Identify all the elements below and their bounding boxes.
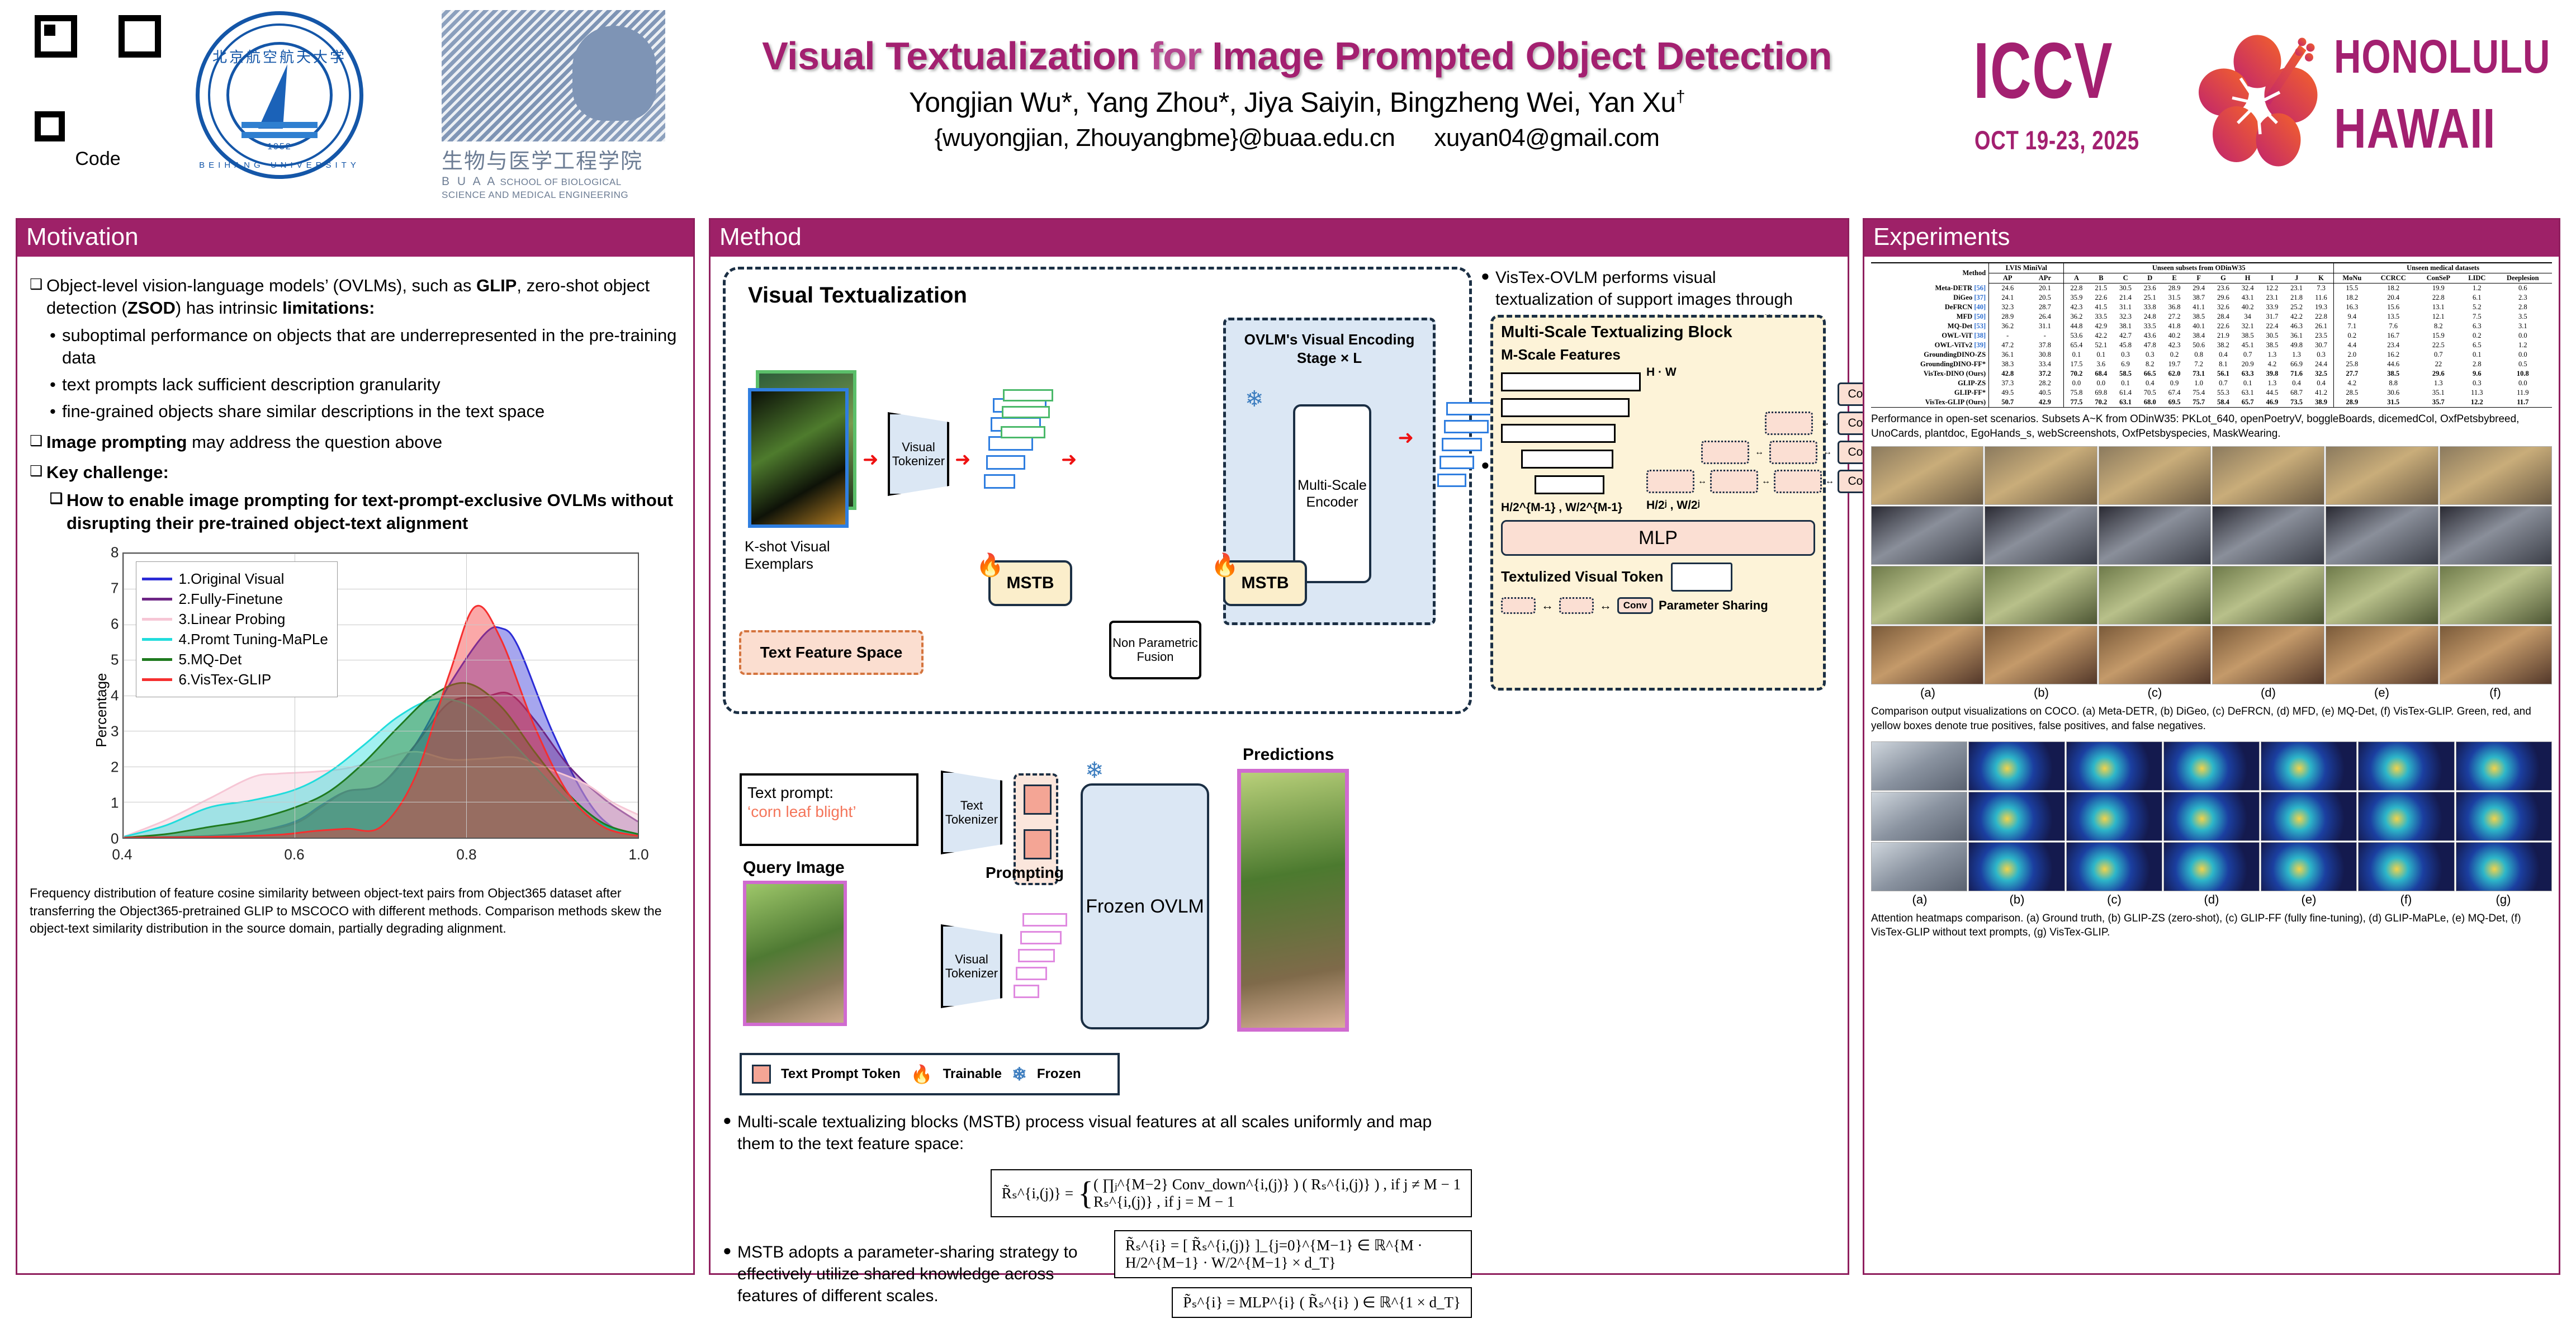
snowflake-icon: ❄ <box>1012 1064 1027 1085</box>
comparison-thumbnail <box>1985 626 2097 684</box>
exemplar-image-2 <box>748 388 849 528</box>
cell: 65.4 <box>2064 341 2089 350</box>
bullet1-post: ) has intrinsic <box>176 298 282 318</box>
cell: 41.2 <box>2309 388 2334 398</box>
cell: 37.2 <box>2026 369 2064 379</box>
cell: 69.5 <box>2162 398 2187 407</box>
buaa-founding-year: 1952 <box>196 142 363 152</box>
cell: 0.3 <box>2309 350 2334 360</box>
cell: 28.9 <box>2334 398 2370 407</box>
school-english-line2: SCIENCE AND MEDICAL ENGINEERING <box>442 190 628 200</box>
cell: 4.2 <box>2260 360 2285 369</box>
cell: 1.3 <box>2260 379 2285 388</box>
scale-feature-slab <box>1501 424 1616 443</box>
cell: 30.6 <box>2370 388 2417 398</box>
comparison-thumbnail <box>2212 506 2324 565</box>
cell: 37.8 <box>2026 341 2064 350</box>
cell: 0.3 <box>2138 350 2162 360</box>
sublabel: (b) <box>1985 686 2098 700</box>
cell: 6.3 <box>2460 322 2494 331</box>
cell: 58.4 <box>2211 398 2236 407</box>
comparison-thumbnail <box>2099 626 2211 684</box>
cell: 26.1 <box>2309 322 2334 331</box>
cell: 4.2 <box>2334 379 2370 388</box>
scale-feature-slab <box>1501 398 1630 417</box>
row-method: DeFRCN [40] <box>1871 303 1989 312</box>
cell: 31.5 <box>2162 293 2187 303</box>
arrow-icon: ➜ <box>863 448 879 471</box>
row-method: DiGeo [37] <box>1871 293 1989 303</box>
col-ConSeP: ConSeP <box>2417 273 2460 283</box>
buaa-chinese-name: 北京航空航天大学 <box>196 46 363 67</box>
cell: 22.8 <box>2064 283 2089 294</box>
page-title: Visual Textualization for Image Prompted… <box>643 34 1951 78</box>
cell: 42.3 <box>2064 303 2089 312</box>
iccv-wordmark: ICCV <box>1973 25 2113 117</box>
cell: 3.6 <box>2089 360 2114 369</box>
cell: 41.5 <box>2089 303 2114 312</box>
sublabel: (a) <box>1871 892 1968 907</box>
cell: 30.7 <box>2309 341 2334 350</box>
comparison-thumbnail <box>1871 506 1983 565</box>
attention-heatmap-thumbnail <box>2261 842 2357 891</box>
cell: 0.8 <box>2186 350 2211 360</box>
y-tick: 0 <box>96 830 119 847</box>
cell: 42.8 <box>1989 369 2026 379</box>
cell: 33.8 <box>2138 303 2162 312</box>
cell: 22 <box>2417 360 2460 369</box>
cell: 42.9 <box>2089 322 2114 331</box>
exemplars-caption: K-shot Visual Exemplars <box>745 538 860 573</box>
flame-icon: 🔥 <box>911 1064 933 1085</box>
figure1-caption: Comparison output visualizations on COCO… <box>1871 705 2552 733</box>
double-arrow-icon: ↔ <box>1823 447 1832 457</box>
comparison-thumbnail <box>2440 446 2552 505</box>
cell: 33.5 <box>2089 312 2114 322</box>
cell: 37.3 <box>1989 379 2026 388</box>
cell: 12.1 <box>2417 312 2460 322</box>
cell: 3.5 <box>2494 312 2552 322</box>
arrow-icon: ➜ <box>955 448 971 471</box>
col-MoNu: MoNu <box>2334 273 2370 283</box>
cell: 0.2 <box>2162 350 2187 360</box>
method-bullet-4: ● MSTB adopts a parameter-sharing strate… <box>723 1241 1103 1307</box>
dot-bullet-icon: • <box>50 400 62 423</box>
text-prompt-box: Text prompt: ‘corn leaf blight’ <box>740 773 918 846</box>
cell: 36.1 <box>1989 350 2026 360</box>
attention-heatmap-thumbnail <box>2066 842 2162 891</box>
predictions-label: Predictions <box>1243 745 1334 764</box>
comparison-thumbnail <box>2326 446 2438 505</box>
cell: 21.8 <box>2284 293 2309 303</box>
mstb-figure-title: Multi-Scale Textualizing Block <box>1501 323 1815 342</box>
cell: 21.9 <box>2211 331 2236 341</box>
double-arrow-icon: ↔ <box>1698 476 1707 486</box>
cell: 63.3 <box>2236 369 2260 379</box>
shared-conv-placeholder <box>1646 470 1694 493</box>
equation-1: R̃ₛ^{i,(j)} = { ( ∏ⱼ^{M−2} Conv_down^{i,… <box>991 1169 1472 1217</box>
bullet2-bold: Image prompting <box>46 432 187 452</box>
square-bullet-icon: ❑ <box>30 431 46 453</box>
col-E: E <box>2162 273 2187 283</box>
cell: 0.4 <box>2138 379 2162 388</box>
table-row: GroundingDINO-FF*38.333.417.53.66.98.219… <box>1871 360 2552 369</box>
y-tick: 6 <box>96 615 119 632</box>
motivation-sub-1: • suboptimal performance on objects that… <box>50 324 681 370</box>
cell: 53.6 <box>2064 331 2089 341</box>
cell: 47.2 <box>1989 341 2026 350</box>
cell: 45.8 <box>2113 341 2138 350</box>
col-method: Method <box>1871 263 1989 283</box>
sublabel: (g) <box>2455 892 2552 907</box>
snowflake-icon: ❄ <box>1245 386 1264 412</box>
cell: 35.9 <box>2064 293 2089 303</box>
shared-conv-placeholder <box>1765 412 1813 435</box>
attention-heatmap-thumbnail <box>1871 792 1967 841</box>
cell: 0.3 <box>2460 379 2494 388</box>
cell: 7.1 <box>2334 322 2370 331</box>
cell: 30.8 <box>2026 350 2064 360</box>
cell: 49.5 <box>1989 388 2026 398</box>
cell: 36.8 <box>2162 303 2187 312</box>
cell: 38.9 <box>2309 398 2334 407</box>
cell: 68.4 <box>2089 369 2114 379</box>
cell: 70.5 <box>2138 388 2162 398</box>
corresponding-marker: † <box>1676 87 1685 106</box>
cell: - <box>1989 331 2026 341</box>
shared-conv-placeholder <box>1559 597 1594 614</box>
cell: 5.2 <box>2460 303 2494 312</box>
table-row: MFD [50]28.926.436.233.532.324.827.238.5… <box>1871 312 2552 322</box>
cell: 25.8 <box>2334 360 2370 369</box>
chart-plot-area: 1.Original Visual2.Fully-Finetune3.Linea… <box>122 552 639 839</box>
cell: 31.1 <box>2026 322 2064 331</box>
method-bullet-3-text: Multi-scale textualizing blocks (MSTB) p… <box>737 1111 1472 1155</box>
cell: 43.6 <box>2138 331 2162 341</box>
cell: 44.8 <box>2064 322 2089 331</box>
cell: 23.6 <box>2211 283 2236 294</box>
group-lvis: LVIS MiniVal <box>1989 263 2064 273</box>
cell: 0.0 <box>2494 379 2552 388</box>
cell: 0.4 <box>2211 350 2236 360</box>
text-feature-space-block: Text Feature Space <box>739 630 924 675</box>
cell: 15.9 <box>2417 331 2460 341</box>
cell: 34 <box>2236 312 2260 322</box>
text-prompt-token-swatch <box>752 1065 771 1084</box>
cell: 1.3 <box>2417 379 2460 388</box>
dot-bullet-icon: • <box>50 374 62 396</box>
cell: 49.8 <box>2284 341 2309 350</box>
table-row: DiGeo [37]24.120.535.922.621.425.131.538… <box>1871 293 2552 303</box>
cell: 44.6 <box>2370 360 2417 369</box>
output-feature-stack <box>1437 402 1499 508</box>
comparison-thumbnail <box>1871 626 1983 684</box>
iccv-dates: OCT 19-23, 2025 <box>1974 125 2139 155</box>
double-arrow-icon: ↔ <box>1599 598 1612 613</box>
visual-tokenizer-block: Visual Tokenizer <box>888 412 949 496</box>
cell: 42.2 <box>2089 331 2114 341</box>
cell: 38.4 <box>2186 331 2211 341</box>
cell: 40.2 <box>2236 303 2260 312</box>
text-tokenizer-block: Text Tokenizer <box>941 771 1002 854</box>
cell: 38.3 <box>1989 360 2026 369</box>
cell: 16.3 <box>2334 303 2370 312</box>
sublabel: (d) <box>2212 686 2325 700</box>
title-block: Visual Textualization for Image Prompted… <box>643 34 1951 152</box>
table-row: Meta-DETR [56]24.620.122.821.530.523.628… <box>1871 283 2552 294</box>
method-panel: Method Visual Textualization K-shot Visu… <box>709 218 1849 1275</box>
cell: 71.6 <box>2284 369 2309 379</box>
cell: 35.1 <box>2417 388 2460 398</box>
comparison-thumbnail <box>2440 506 2552 565</box>
chart-caption: Frequency distribution of feature cosine… <box>30 885 681 938</box>
query-feature-stack <box>1014 913 1075 1019</box>
comparison-visualizations-figure <box>1871 446 2552 684</box>
table-row: GroundingDINO-ZS36.130.80.10.10.30.30.20… <box>1871 350 2552 360</box>
cell: 44.5 <box>2260 388 2285 398</box>
cell: 9.6 <box>2460 369 2494 379</box>
cell: 15.5 <box>2334 283 2370 294</box>
table-row: MQ-Det [53]36.231.144.842.938.133.541.84… <box>1871 322 2552 331</box>
bullet1-glip: GLIP <box>476 276 517 295</box>
sublabel: (f) <box>2438 686 2552 700</box>
query-image-label: Query Image <box>743 858 845 877</box>
email-buaa[interactable]: {wuyongjian, Zhouyangbme}@buaa.edu.cn <box>935 124 1395 152</box>
legend-item: 5.MQ-Det <box>142 651 328 668</box>
email-gmail[interactable]: xuyan04@gmail.com <box>1434 124 1659 152</box>
cell: 10.8 <box>2494 369 2552 379</box>
row-method: MFD [50] <box>1871 312 1989 322</box>
bullet2-rest: may address the question above <box>187 432 442 452</box>
comparison-thumbnail <box>2326 626 2438 684</box>
legend-frozen-label: Frozen <box>1037 1066 1081 1082</box>
cell: 50.6 <box>2186 341 2211 350</box>
col-APr: APr <box>2026 273 2064 283</box>
cell: 66.9 <box>2284 360 2309 369</box>
cell: 0.4 <box>2309 379 2334 388</box>
cell: 75.7 <box>2186 398 2211 407</box>
x-tick: 0.4 <box>112 846 132 863</box>
double-arrow-icon: ↔ <box>1541 598 1554 613</box>
cell: 1.3 <box>2284 350 2309 360</box>
row-method: GroundingDINO-ZS <box>1871 350 1989 360</box>
cell: 46.9 <box>2260 398 2285 407</box>
cell: 7.2 <box>2186 360 2211 369</box>
buaa-english-name: BEIHANG UNIVERSITY <box>196 160 363 170</box>
cell: 32.3 <box>1989 303 2026 312</box>
table-row: OWL-ViT [38]--53.642.242.743.640.238.421… <box>1871 331 2552 341</box>
cell: 2.8 <box>2494 303 2552 312</box>
col-J: J <box>2284 273 2309 283</box>
x-tick: 0.6 <box>284 846 304 863</box>
cell: 25.2 <box>2284 303 2309 312</box>
conv-block: Conv <box>1617 597 1653 614</box>
experiments-body: MethodLVIS MiniValUnseen subsets from OD… <box>1864 257 2559 946</box>
dot-bullet-icon: ● <box>723 1111 737 1155</box>
query-image <box>743 881 847 1026</box>
attention-heatmap-thumbnail <box>2261 792 2357 841</box>
cell: 36.2 <box>1989 322 2026 331</box>
col-LIDC: LIDC <box>2460 273 2494 283</box>
experiments-panel: Experiments MethodLVIS MiniValUnseen sub… <box>1863 218 2560 1275</box>
cell: 17.5 <box>2064 360 2089 369</box>
cell: 25.1 <box>2138 293 2162 303</box>
figure2-caption: Attention heatmaps comparison. (a) Groun… <box>1871 911 2552 940</box>
cell: 0.7 <box>2236 350 2260 360</box>
cell: 32.5 <box>2309 369 2334 379</box>
cell: 70.2 <box>2089 398 2114 407</box>
cell: 0.0 <box>2494 331 2552 341</box>
cell: 69.8 <box>2089 388 2114 398</box>
table-row: GLIP-FF*49.540.575.869.861.470.567.475.4… <box>1871 388 2552 398</box>
snowflake-icon: ❄ <box>1085 758 1104 783</box>
comparison-thumbnail <box>2099 446 2211 505</box>
col-AP: AP <box>1989 273 2026 283</box>
method-body: Visual Textualization K-shot Visual Exem… <box>711 257 1848 1328</box>
cell: 38.2 <box>2211 341 2236 350</box>
arrow-icon: ➜ <box>1398 427 1414 449</box>
conference-state: HAWAII <box>2334 97 2495 161</box>
motivation-body: ❑ Object-level vision-language models’ (… <box>17 257 693 948</box>
sublabel: (c) <box>2066 892 2163 907</box>
col-C: C <box>2113 273 2138 283</box>
cell: 38.5 <box>2236 331 2260 341</box>
cell: 1.3 <box>2260 350 2285 360</box>
cell: 11.9 <box>2494 388 2552 398</box>
cell: 28.4 <box>2211 312 2236 322</box>
cell: 12.2 <box>2460 398 2494 407</box>
cell: 24.6 <box>1989 283 2026 294</box>
shared-conv-placeholder <box>1701 441 1749 464</box>
text-prompt-value: ‘corn leaf blight’ <box>747 802 911 821</box>
sub3-text: fine-grained objects share similar descr… <box>62 400 544 423</box>
equation-3: P̃ₛ^{i} = MLP^{i} ( R̃ₛ^{i} ) ∈ ℝ^{1 × d… <box>1172 1287 1472 1318</box>
key-challenge-text: How to enable image prompting for text-p… <box>67 489 681 535</box>
cell: 7.6 <box>2370 322 2417 331</box>
cell: 36.2 <box>2064 312 2089 322</box>
cell: 68.7 <box>2284 388 2309 398</box>
qr-code-icon[interactable] <box>34 14 162 143</box>
cell: 50.7 <box>1989 398 2026 407</box>
comparison-thumbnail <box>2440 626 2552 684</box>
cell: 70.2 <box>2064 369 2089 379</box>
cell: 31.1 <box>2113 303 2138 312</box>
double-arrow-icon: ↔ <box>1755 447 1764 457</box>
cell: 42.2 <box>2284 312 2309 322</box>
y-tick: 3 <box>96 722 119 740</box>
cell: 68.0 <box>2138 398 2162 407</box>
cell: 11.7 <box>2494 398 2552 407</box>
cell: 39.8 <box>2260 369 2285 379</box>
cell: 12.2 <box>2260 283 2285 294</box>
cell: 9.4 <box>2334 312 2370 322</box>
comparison-thumbnail <box>1871 446 1983 505</box>
cell: 40.2 <box>2162 331 2187 341</box>
title-connector: for <box>1140 34 1213 78</box>
col-G: G <box>2211 273 2236 283</box>
hibiscus-flower-icon <box>2190 29 2330 173</box>
shared-conv-placeholder <box>1774 470 1822 493</box>
square-bullet-icon: ❑ <box>30 461 46 484</box>
cell: 62.0 <box>2162 369 2187 379</box>
cell: 75.8 <box>2064 388 2089 398</box>
cell: 67.4 <box>2162 388 2187 398</box>
cell: 2.8 <box>2460 360 2494 369</box>
cell: 20.4 <box>2370 293 2417 303</box>
cell: 35.7 <box>2417 398 2460 407</box>
cell: 31.5 <box>2370 398 2417 407</box>
legend-token-label: Text Prompt Token <box>781 1066 901 1082</box>
row-method: VisTex-GLIP (Ours) <box>1871 398 1989 407</box>
attention-heatmap-thumbnail <box>2456 741 2552 791</box>
cell: 7.3 <box>2309 283 2334 294</box>
scale-feature-slab <box>1535 475 1604 494</box>
cell: 22.8 <box>2417 293 2460 303</box>
sublabel: (a) <box>1871 686 1985 700</box>
cell: 42.3 <box>2162 341 2187 350</box>
cell: 0.7 <box>2211 379 2236 388</box>
email-line: {wuyongjian, Zhouyangbme}@buaa.edu.cnxuy… <box>643 124 1951 152</box>
attention-heatmap-thumbnail <box>2358 792 2454 841</box>
textulized-token-shape <box>1671 563 1732 592</box>
row-method: MQ-Det [53] <box>1871 322 1989 331</box>
cell: 23.6 <box>2138 283 2162 294</box>
col-K: K <box>2309 273 2334 283</box>
comparison-thumbnail <box>2326 506 2438 565</box>
attention-heatmap-thumbnail <box>1871 842 1967 891</box>
ovlm-title-l1: OVLM's Visual Encoding <box>1244 331 1415 348</box>
cell: 55.3 <box>2211 388 2236 398</box>
eq1-lhs: R̃ₛ^{i,(j)} = <box>1002 1176 1078 1211</box>
cell: 8.2 <box>2138 360 2162 369</box>
row-method: GLIP-FF* <box>1871 388 1989 398</box>
table-row: GLIP-ZS37.328.20.00.00.10.40.91.00.70.11… <box>1871 379 2552 388</box>
visual-tokenizer-block-2: Visual Tokenizer <box>941 924 1002 1008</box>
cell: 24.8 <box>2138 312 2162 322</box>
y-tick: 4 <box>96 687 119 704</box>
legend-item: 1.Original Visual <box>142 570 328 588</box>
cell: 38.7 <box>2186 293 2211 303</box>
motivation-key-challenge: ❑ How to enable image prompting for text… <box>50 489 681 535</box>
cell: 18.2 <box>2334 293 2370 303</box>
cell: 33.4 <box>2026 360 2064 369</box>
cell: 43.1 <box>2236 293 2260 303</box>
x-tick: 1.0 <box>628 846 648 863</box>
cell: 66.5 <box>2138 369 2162 379</box>
cell: 0.1 <box>2236 379 2260 388</box>
arrow-icon: ➜ <box>1061 448 1077 471</box>
cell: 0.7 <box>2417 350 2460 360</box>
attention-heatmap-thumbnail <box>1968 741 2064 791</box>
architecture-figure: Visual Textualization K-shot Visual Exem… <box>723 267 1472 714</box>
row-method: GLIP-ZS <box>1871 379 1989 388</box>
sub1-text: suboptimal performance on objects that a… <box>62 324 681 370</box>
method-equations-section: ● Multi-scale textualizing blocks (MSTB)… <box>723 1111 1472 1318</box>
cell: 29.4 <box>2186 283 2211 294</box>
cell: 27.2 <box>2162 312 2187 322</box>
school-chinese-name: 生物与医学工程学院 <box>442 144 665 174</box>
cell: 0.3 <box>2113 350 2138 360</box>
cell: 28.7 <box>2026 303 2064 312</box>
col-A: A <box>2064 273 2089 283</box>
row-method: GroundingDINO-FF* <box>1871 360 1989 369</box>
col-CCRCC: CCRCC <box>2370 273 2417 283</box>
cell: 0.1 <box>2460 350 2494 360</box>
shared-conv-placeholder <box>1769 441 1817 464</box>
cell: 13.1 <box>2417 303 2460 312</box>
parameter-sharing-label: Parameter Sharing <box>1659 598 1768 613</box>
attention-heatmap-thumbnail <box>2358 842 2454 891</box>
